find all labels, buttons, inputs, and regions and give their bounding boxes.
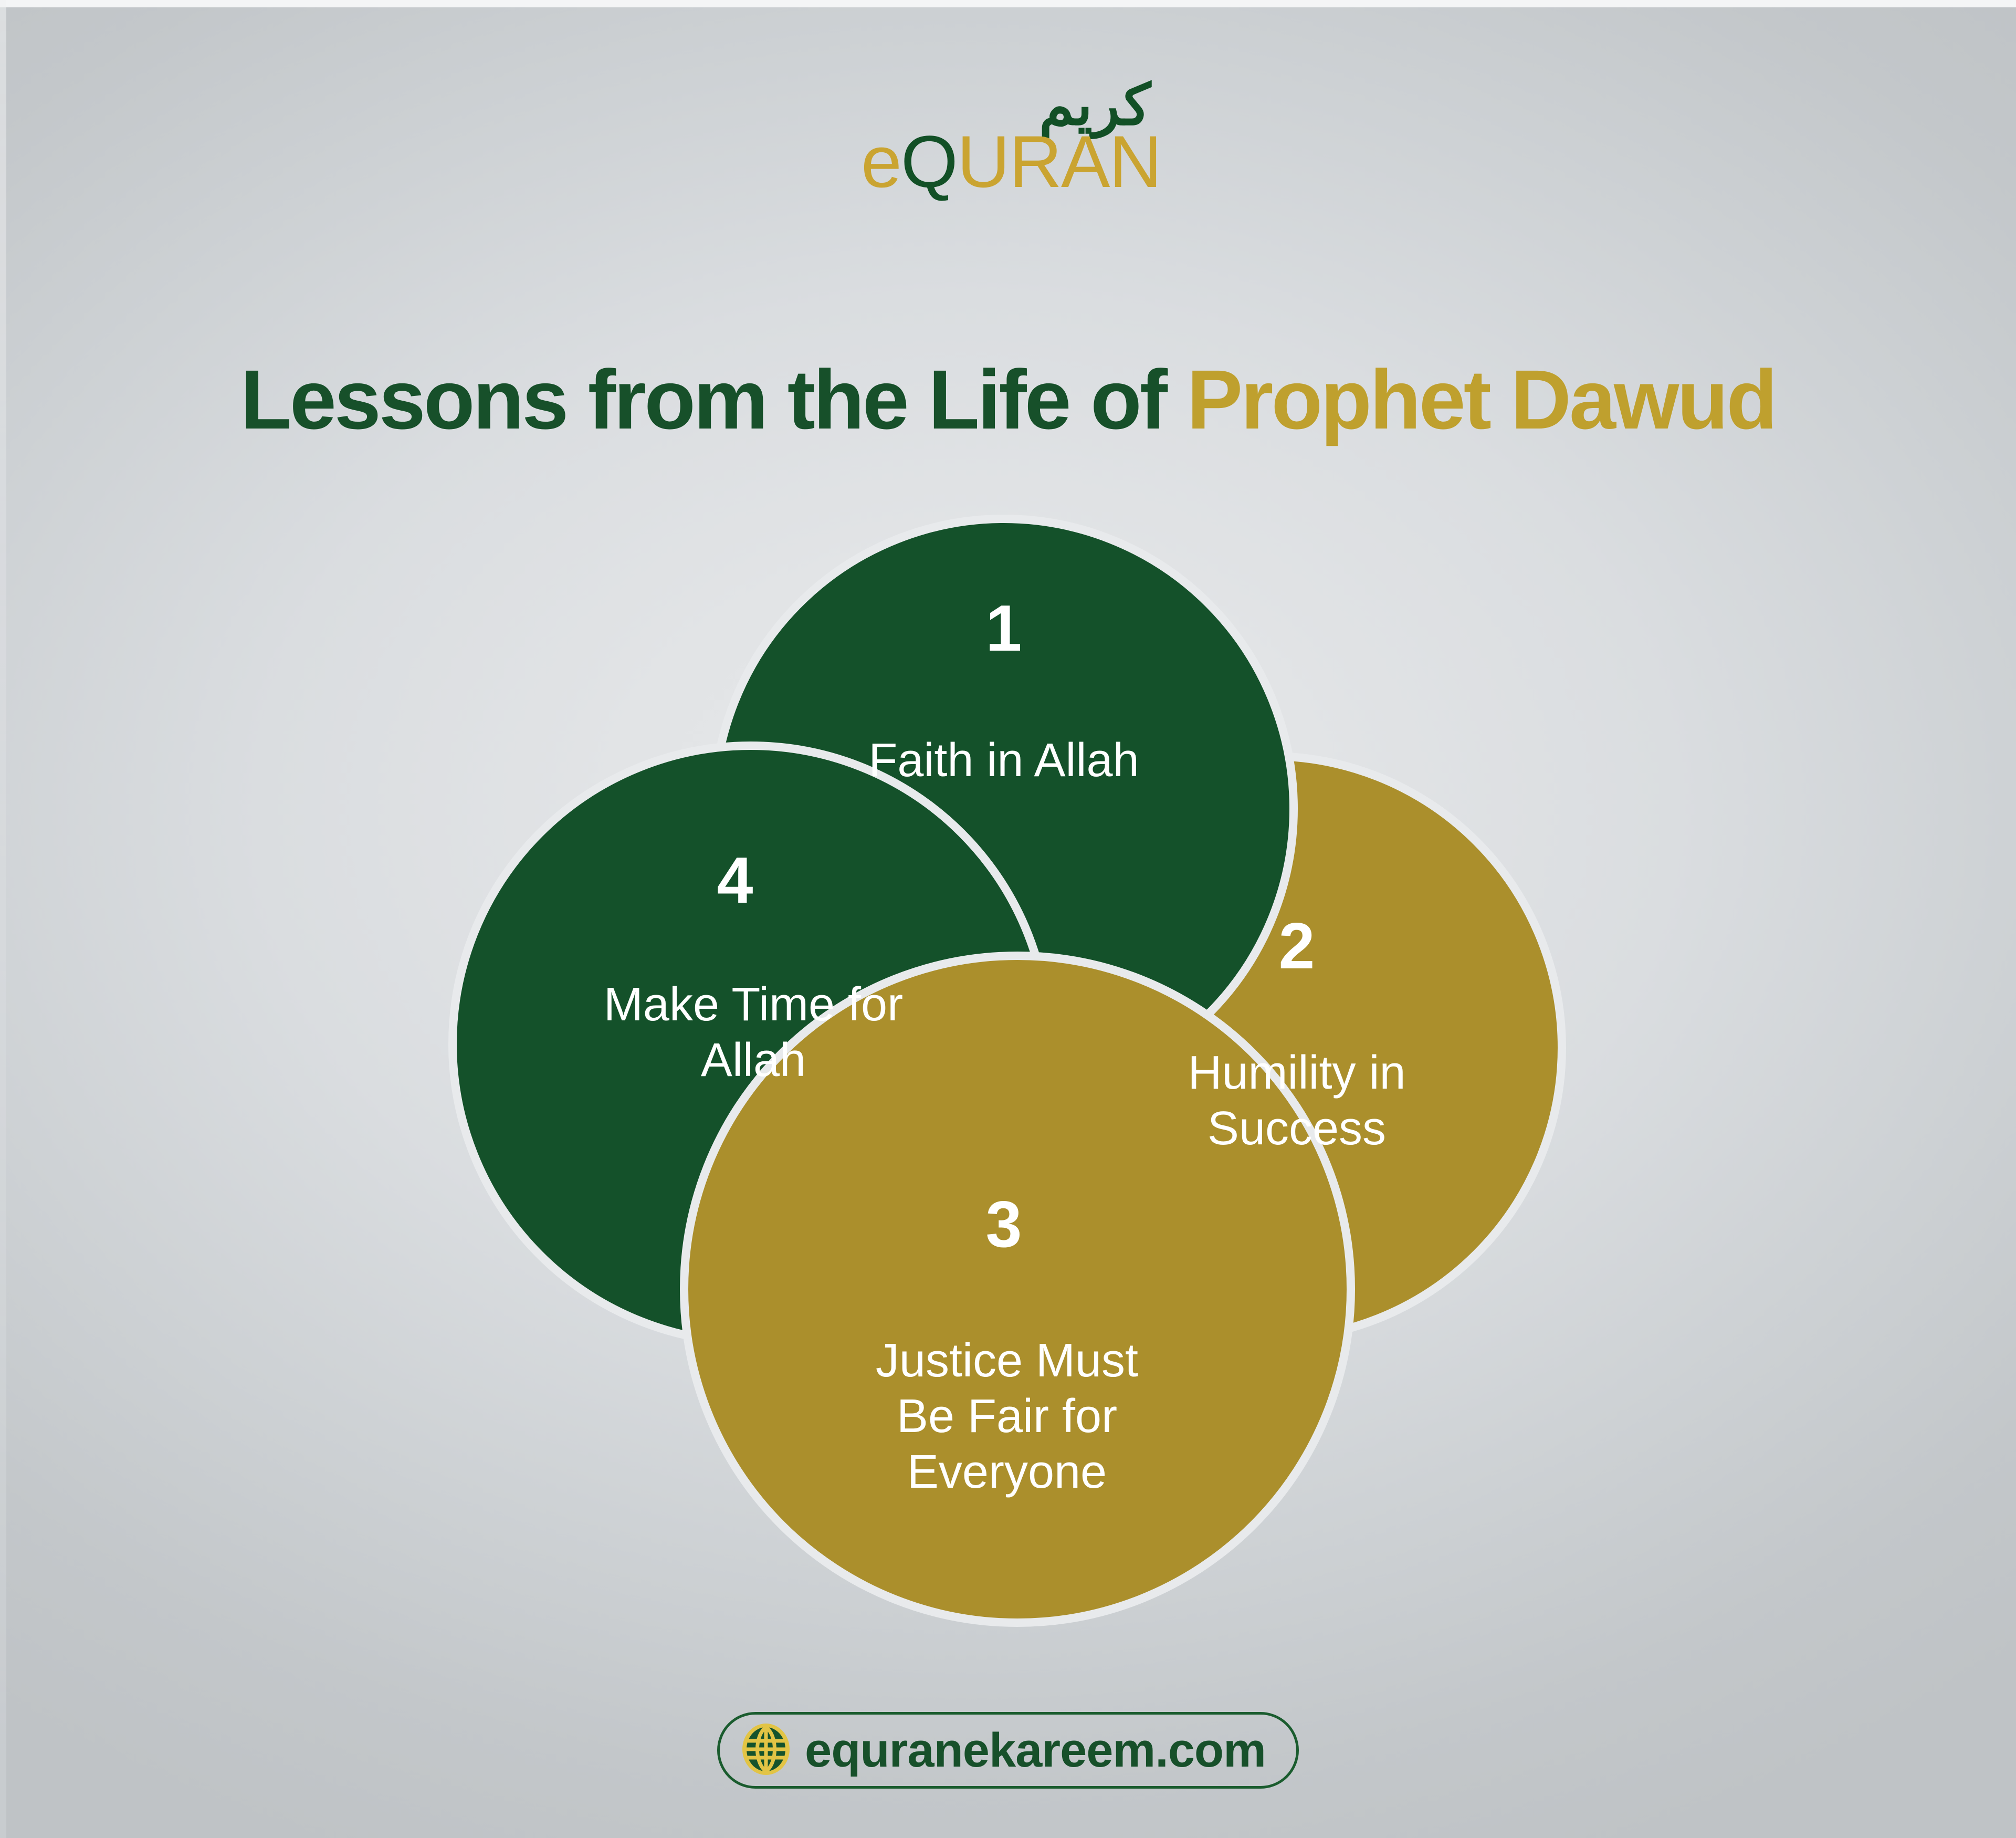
website-url-pill[interactable]: equranekareem.com: [717, 1712, 1299, 1789]
venn-circle-3[interactable]: [684, 956, 1351, 1623]
venn-diagram-svg: [0, 0, 2016, 1838]
website-url-text[interactable]: equranekareem.com: [805, 1726, 1266, 1774]
venn-diagram: 1 Faith in Allah 2 Humility in Success 3…: [0, 0, 2016, 1838]
globe-icon: [741, 1723, 791, 1778]
footer: equranekareem.com: [0, 1712, 2016, 1789]
infographic-canvas: كريم eQURAN Lessons from the Life of Pro…: [0, 0, 2016, 1838]
